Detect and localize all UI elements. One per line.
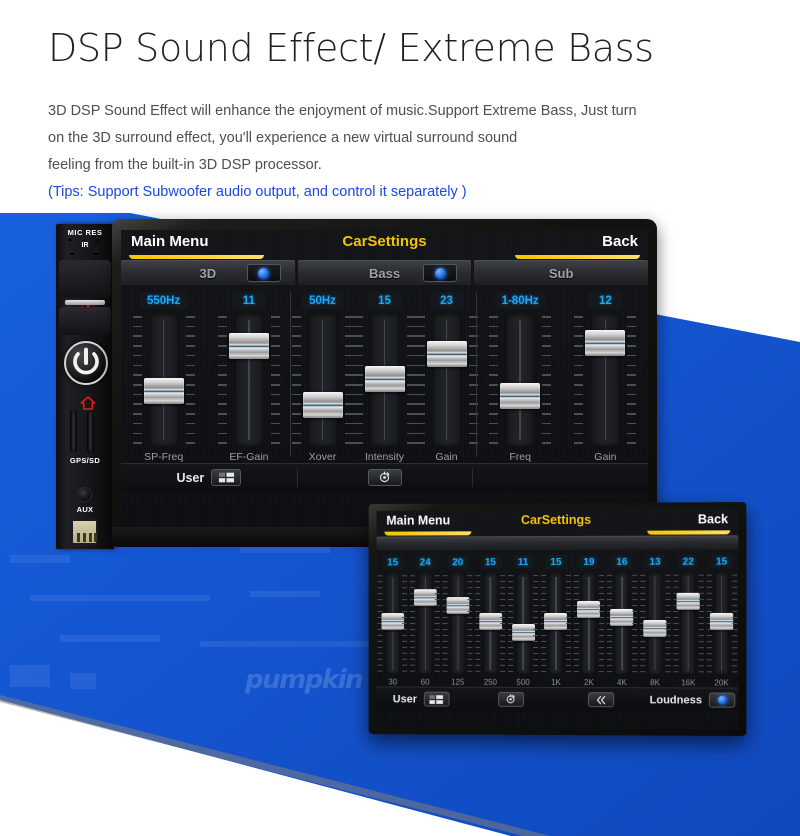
eq-band-label: 2K — [584, 674, 594, 687]
slider-track[interactable] — [149, 314, 179, 446]
eq-slider-thumb[interactable] — [710, 613, 733, 630]
volume-rocker[interactable] — [65, 300, 105, 305]
channel-gain: 12Gain — [563, 285, 648, 463]
aux-label: AUX — [56, 505, 114, 514]
eq-band-8k: 138K — [638, 555, 671, 688]
channel-sp-freq: 550HzSP-Freq — [121, 285, 206, 463]
slider-track[interactable] — [505, 314, 535, 446]
eq-slider-track[interactable] — [614, 573, 629, 674]
eq-slider-track[interactable] — [418, 573, 433, 673]
eq-slider-thumb[interactable] — [414, 589, 437, 606]
eq-slider-thumb[interactable] — [544, 613, 567, 630]
slider-tick-marks — [133, 316, 142, 444]
slider-intensity[interactable] — [354, 314, 416, 446]
eq-screen-title: CarSettings — [521, 513, 591, 527]
eq-band-slider[interactable] — [476, 573, 506, 674]
eq-slider-track[interactable] — [581, 573, 596, 674]
eq-band-125: 20125 — [441, 555, 474, 687]
eq-band-label: 30 — [388, 674, 397, 687]
reset-button[interactable] — [368, 469, 402, 486]
eq-band-500: 11500 — [507, 555, 540, 687]
eq-band-2k: 192K — [572, 555, 605, 687]
ir-hole-left — [70, 251, 74, 255]
slider-ef-gain[interactable] — [218, 314, 280, 446]
eq-band-label: 125 — [451, 674, 464, 687]
channel-value[interactable]: 15 — [368, 292, 402, 309]
channel-value[interactable]: 550Hz — [140, 292, 187, 309]
slider-tick-marks — [435, 575, 440, 672]
user-preset-button[interactable] — [211, 469, 241, 486]
eq-band-label: 4K — [617, 674, 627, 687]
eq-band-value[interactable]: 20 — [447, 555, 468, 569]
eq-slider-thumb[interactable] — [677, 593, 700, 610]
slider-tick-marks — [732, 575, 737, 673]
eq-slider-bank: 15302460201251525011500151K192K164K138K2… — [377, 549, 739, 687]
toggle-3d[interactable] — [247, 264, 281, 282]
slider-tick-marks — [632, 575, 637, 672]
slider-track[interactable] — [234, 314, 264, 446]
eq-slider-thumb[interactable] — [577, 601, 600, 618]
refresh-circle-icon — [378, 471, 391, 484]
channel-ef-gain: 11EF-Gain — [206, 285, 291, 463]
device-side-control-panel: MIC RES IR — [56, 224, 114, 549]
slider-tick-marks — [468, 575, 473, 672]
channel-freq: 1-80HzFreq — [478, 285, 563, 463]
loudness-label: Loudness — [650, 694, 702, 706]
spare-cell — [472, 464, 648, 491]
eq-band-16k: 2216K — [672, 555, 705, 688]
slider-thumb[interactable] — [427, 341, 467, 367]
usb-port[interactable] — [71, 519, 98, 545]
slider-tick-marks — [345, 316, 354, 444]
eq-main-menu-underline — [384, 531, 471, 535]
eq-user-preset-cell: User — [377, 687, 466, 710]
slider-thumb[interactable] — [144, 378, 184, 404]
gps-sd-label: GPS/SD — [56, 456, 114, 465]
section-3d-label: 3D — [200, 266, 217, 281]
main-screen: Main Menu CarSettings Back 3D Bass Sub — [121, 230, 648, 531]
eq-band-30: 1530 — [377, 555, 409, 686]
channel-label: Freq — [509, 446, 531, 463]
refresh-circle-icon — [505, 694, 516, 705]
section-sub-label: Sub — [549, 266, 574, 281]
eq-bottom-bar: User — [377, 686, 739, 711]
slider-track[interactable] — [432, 314, 462, 446]
slider-sp-freq[interactable] — [133, 314, 195, 446]
eq-main-menu-button[interactable]: Main Menu — [386, 513, 450, 527]
channel-value[interactable]: 50Hz — [302, 292, 343, 309]
ir-hole-right — [94, 251, 98, 255]
slider-banks: 550HzSP-Freq11EF-Gain50HzXover15Intensit… — [121, 285, 648, 463]
section-bass-label: Bass — [369, 266, 400, 281]
back-underline — [515, 255, 640, 259]
slider-tick-marks — [566, 575, 571, 672]
eq-band-slider[interactable] — [541, 573, 571, 674]
led-indicator-3d — [258, 268, 269, 279]
double-chevron-left-icon — [595, 694, 607, 706]
eq-band-slider[interactable] — [673, 573, 703, 675]
channel-gain: 23Gain — [416, 285, 478, 463]
loudness-cell: Loudness — [647, 688, 738, 711]
eq-slider-track[interactable] — [385, 573, 400, 673]
ir-label: IR — [56, 242, 114, 249]
eq-band-label: 20K — [714, 674, 728, 687]
power-icon — [66, 343, 106, 383]
channel-value[interactable]: 11 — [232, 292, 266, 309]
eq-band-slider[interactable] — [508, 573, 538, 674]
slider-tick-marks — [542, 316, 551, 444]
eq-back-button[interactable]: Back — [698, 512, 728, 526]
section-sub: Sub — [474, 260, 648, 285]
eq-band-slider[interactable] — [640, 573, 670, 674]
res-hole — [96, 237, 100, 241]
slider-tick-marks — [489, 316, 498, 444]
eq-slider-thumb[interactable] — [446, 597, 469, 614]
eq-band-slider[interactable] — [443, 573, 473, 674]
gps-card-slot[interactable] — [70, 410, 77, 452]
user-label: User — [176, 471, 204, 485]
grid-layout-icon — [218, 472, 235, 483]
eq-band-slider[interactable] — [574, 573, 604, 674]
eq-header-strip — [377, 535, 739, 550]
eq-back-underline — [647, 530, 730, 534]
toggle-bass[interactable] — [423, 264, 457, 282]
slider-tick-marks — [665, 575, 670, 672]
channel-value[interactable]: 1-80Hz — [495, 292, 546, 309]
eq-slider-thumb[interactable] — [512, 624, 535, 641]
eq-user-preset-button[interactable] — [424, 692, 450, 707]
eq-band-value[interactable]: 15 — [711, 555, 732, 569]
eq-reset-button[interactable] — [498, 692, 524, 707]
eq-slider-thumb[interactable] — [381, 614, 404, 631]
description-line-3: feeling from the built-in 3D DSP process… — [48, 152, 748, 179]
eq-band-1k: 151K — [540, 555, 573, 687]
home-button[interactable] — [59, 307, 111, 335]
eq-slider-thumb[interactable] — [610, 609, 633, 626]
slider-gain[interactable] — [574, 314, 636, 446]
channel-label: Intensity — [365, 446, 404, 463]
equalizer-head-unit: Main Menu CarSettings Back 1530246020125… — [367, 503, 745, 735]
eq-band-250: 15250 — [474, 555, 507, 687]
eq-screen-topbar: Main Menu CarSettings Back — [377, 509, 739, 536]
eq-slider-track[interactable] — [714, 573, 729, 675]
channel-label: EF-Gain — [229, 446, 268, 463]
eq-band-label: 16K — [681, 674, 695, 687]
slider-thumb[interactable] — [585, 330, 625, 356]
slider-thumb[interactable] — [229, 333, 269, 359]
channel-label: Gain — [594, 446, 616, 463]
eq-band-slider[interactable] — [706, 573, 736, 675]
eq-band-slider[interactable] — [410, 573, 440, 674]
eq-band-label: 500 — [516, 674, 529, 687]
slider-freq[interactable] — [489, 314, 551, 446]
slider-tick-marks — [673, 575, 678, 673]
eq-slider-track[interactable] — [450, 573, 465, 674]
eq-slider-track[interactable] — [647, 573, 662, 674]
brightness-button[interactable] — [59, 260, 111, 298]
slider-tick-marks — [403, 575, 408, 671]
slider-track[interactable] — [590, 314, 620, 446]
eq-band-label: 1K — [551, 674, 561, 687]
led-indicator-loudness — [718, 696, 727, 705]
slider-tick-marks — [574, 316, 583, 444]
eq-band-value[interactable]: 15 — [480, 555, 501, 569]
eq-band-value[interactable]: 19 — [578, 555, 599, 569]
slider-tick-marks — [416, 316, 425, 444]
main-menu-underline — [129, 255, 264, 259]
eq-band-60: 2460 — [409, 555, 442, 686]
eq-user-label: User — [393, 693, 417, 705]
eq-band-slider[interactable] — [607, 573, 637, 674]
slider-tick-marks — [271, 316, 280, 444]
slider-thumb[interactable] — [303, 392, 343, 418]
eq-slider-track[interactable] — [516, 573, 531, 674]
eq-band-label: 250 — [484, 674, 497, 687]
eq-band-slider[interactable] — [378, 573, 408, 673]
led-indicator-bass — [435, 268, 446, 279]
eq-band-value[interactable]: 13 — [644, 555, 665, 569]
eq-band-4k: 164K — [605, 555, 638, 687]
eq-band-20k: 1520K — [705, 555, 738, 688]
channel-xover: 50HzXover — [292, 285, 354, 463]
eq-slider-thumb[interactable] — [643, 620, 666, 637]
eq-back-cell — [556, 688, 647, 711]
sd-card-slot[interactable] — [87, 410, 94, 452]
grid-layout-icon — [429, 694, 444, 704]
loudness-toggle[interactable] — [709, 692, 735, 707]
eq-slider-thumb[interactable] — [479, 613, 502, 630]
slider-tick-marks — [574, 575, 579, 672]
eq-band-value[interactable]: 22 — [678, 555, 699, 569]
slider-xover[interactable] — [292, 314, 354, 446]
eq-band-label: 8K — [650, 674, 660, 687]
eq-band-value[interactable]: 11 — [513, 555, 534, 569]
mic-hole — [68, 237, 72, 241]
aux-jack[interactable] — [77, 487, 92, 502]
slider-tick-marks — [186, 316, 195, 444]
description-line-1: 3D DSP Sound Effect will enhance the enj… — [48, 98, 748, 125]
slider-thumb[interactable] — [500, 383, 540, 409]
slider-tick-marks — [627, 316, 636, 444]
eq-slider-track[interactable] — [548, 573, 563, 674]
slider-track[interactable] — [370, 314, 400, 446]
channel-intensity: 15Intensity — [354, 285, 416, 463]
eq-band-value[interactable]: 24 — [415, 555, 436, 569]
home-icon — [80, 395, 96, 411]
eq-band-value[interactable]: 15 — [382, 555, 403, 569]
channel-label: Gain — [435, 446, 457, 463]
description-line-2: on the 3D surround effect, you'll experi… — [48, 125, 748, 152]
reset-cell — [297, 464, 473, 491]
slider-tick-marks — [292, 316, 301, 444]
eq-band-value[interactable]: 16 — [611, 555, 632, 569]
section-3d: 3D — [121, 260, 295, 285]
main-screen-topbar: Main Menu CarSettings Back — [121, 230, 648, 260]
slider-tick-marks — [599, 575, 604, 672]
mic-res-label: MIC RES — [56, 228, 114, 237]
eq-slider-track[interactable] — [681, 573, 696, 675]
channel-value[interactable]: 23 — [430, 292, 464, 309]
back-button[interactable]: Back — [602, 233, 638, 250]
eq-slider-track[interactable] — [483, 573, 498, 674]
main-menu-button[interactable]: Main Menu — [131, 233, 209, 250]
channel-value[interactable]: 12 — [588, 292, 622, 309]
page-title: DSP Sound Effect/ Extreme Bass — [48, 26, 654, 70]
slider-bank-3d: 550HzSP-Freq11EF-Gain — [121, 285, 292, 463]
eq-band-label: 60 — [421, 674, 430, 687]
eq-prev-button[interactable] — [588, 692, 614, 707]
section-header-strip: 3D Bass Sub — [121, 260, 648, 285]
section-bass: Bass — [298, 260, 472, 285]
slider-tick-marks — [218, 316, 227, 444]
eq-screen: Main Menu CarSettings Back 1530246020125… — [377, 509, 739, 730]
channel-label: SP-Freq — [144, 446, 183, 463]
slider-tick-marks — [500, 575, 505, 672]
user-preset-cell: User — [121, 464, 297, 491]
slider-tick-marks — [533, 575, 538, 672]
slider-tick-marks — [698, 575, 703, 673]
channel-label: Xover — [309, 446, 336, 463]
description-paragraph: 3D DSP Sound Effect will enhance the enj… — [48, 98, 748, 206]
main-display-bezel: Main Menu CarSettings Back 3D Bass Sub — [112, 219, 657, 531]
power-button[interactable] — [64, 341, 108, 385]
slider-tick-marks — [407, 316, 416, 444]
eq-display-bezel: Main Menu CarSettings Back 1530246020125… — [369, 502, 747, 736]
slider-tick-marks — [443, 575, 448, 672]
screen-title: CarSettings — [342, 233, 426, 250]
slider-tick-marks — [354, 316, 363, 444]
slider-bank-sub: 1-80HzFreq12Gain — [478, 285, 649, 463]
eq-band-value[interactable]: 15 — [545, 555, 566, 569]
slider-gain[interactable] — [416, 314, 478, 446]
slider-thumb[interactable] — [365, 366, 405, 392]
main-bottom-bar: User — [121, 463, 648, 491]
slider-bank-bass: 50HzXover15Intensity23Gain — [292, 285, 478, 463]
slider-track[interactable] — [308, 314, 338, 446]
eq-reset-cell — [466, 688, 556, 711]
